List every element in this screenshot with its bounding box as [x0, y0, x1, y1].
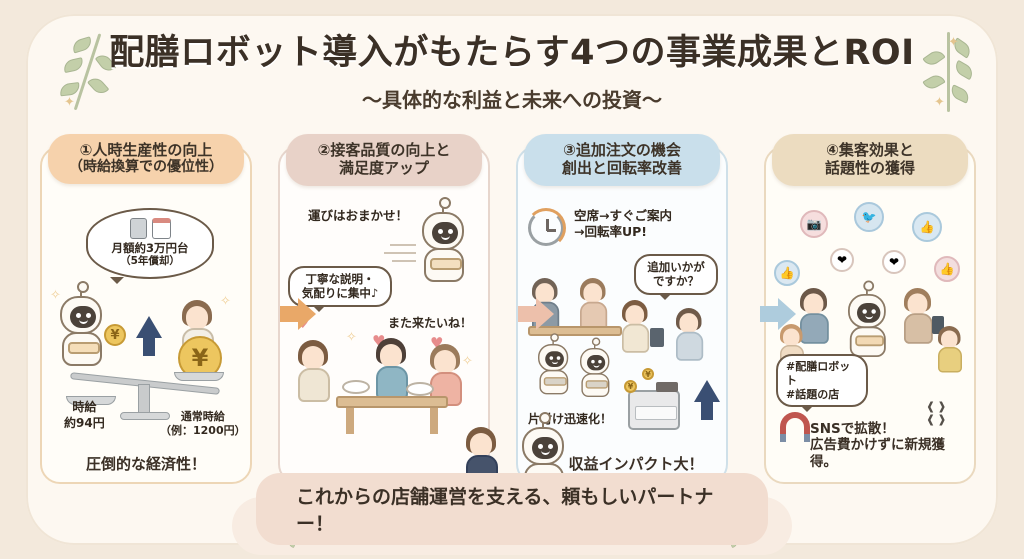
- panel-1-body: 月額約3万円台 （5年償却） ¥ ✧ ¥ ✧: [42, 204, 250, 482]
- clock-refresh-icon: [528, 210, 564, 246]
- panel-3-bubble: 追加いかが ですか？: [634, 254, 718, 295]
- panel-3-note-top: 空席→すぐご案内 →回転率UP!: [574, 208, 672, 241]
- panel-4-body: 📷 🐦 👍 ❤ ❤ 👍 👍: [766, 204, 974, 482]
- up-arrow-icon: [694, 380, 720, 402]
- panel-1-title-line1: ①人時生産性の向上: [54, 141, 238, 159]
- panel-4-title-line2: 話題性の獲得: [778, 159, 962, 177]
- thumbs-up-icon: 👍: [912, 212, 942, 242]
- table-leg: [346, 408, 354, 434]
- page-subtitle: 〜具体的な利益と未来への投資〜: [0, 84, 1024, 113]
- coin-icon: ¥: [624, 380, 637, 393]
- panel-2-title-line2: 満足度アップ: [292, 159, 476, 177]
- panel-2-note-right: また来たいね！: [388, 316, 472, 332]
- panel-3-note-top-line2: →回転率UP!: [574, 224, 647, 239]
- heart-icon: ❤: [882, 250, 906, 274]
- cash-register-icon: [628, 390, 680, 430]
- panel-2-note-top: 運びはおまかせ！: [308, 208, 408, 224]
- panel-3-bubble-line2: ですか？: [644, 274, 708, 288]
- panel-4-title-line1: ④集客効果と: [778, 141, 962, 159]
- sparkle-icon: ✧: [220, 294, 231, 309]
- twitter-bird-icon: 🐦: [854, 202, 884, 232]
- panel-1-left-label-line1: 時給: [72, 400, 96, 414]
- arrow-panel2-to-panel3: [536, 298, 554, 330]
- motion-line: [384, 252, 416, 254]
- sparkle-icon: ✧: [50, 288, 61, 303]
- page-title: 配膳ロボット導入がもたらす4つの事業成果とROI: [0, 24, 1024, 75]
- header: 配膳ロボット導入がもたらす4つの事業成果とROI 〜具体的な利益と未来への投資〜: [0, 24, 1024, 113]
- table-leg: [430, 408, 438, 434]
- panel-1-left-label: 時給 約94円: [64, 400, 105, 431]
- arrow-panel3-to-panel4: [778, 298, 796, 330]
- panel-4-caption: SNSで拡散！ 広告費かけずに新規獲得。: [810, 421, 970, 470]
- thumbs-up-icon: 👍: [934, 256, 960, 282]
- panel-1-right-label-line1: 通常時給: [181, 410, 225, 423]
- panel-3-title-line2: 創出と回転率改善: [530, 159, 714, 177]
- panel-1-right-label-line2: （例：1200円）: [160, 424, 246, 437]
- panel-3-header: ③追加注文の機会 創出と回転率改善: [524, 134, 720, 186]
- panel-1-title-line2: （時給換算での優位性）: [54, 159, 238, 176]
- panel-1-bubble-text: 月額約3万円台: [98, 241, 202, 255]
- dish-icon: [342, 380, 370, 394]
- arrow-panel1-to-panel2: [298, 298, 316, 330]
- sparkle-icon: ✧: [462, 354, 473, 369]
- heart-icon: ❤: [830, 248, 854, 272]
- panel-3-note-top-line1: 空席→すぐご案内: [574, 208, 672, 223]
- panel-2-header: ②接客品質の向上と 満足度アップ: [286, 134, 482, 186]
- motion-line: [392, 260, 416, 262]
- calculator-icon: [130, 218, 147, 239]
- camera-icon: 📷: [800, 210, 828, 238]
- calendar-icon: [152, 218, 171, 239]
- panel-2-bubble-line1: 丁寧な説明・: [298, 272, 382, 286]
- motion-line: [390, 244, 416, 246]
- panel-1-bubble: 月額約3万円台 （5年償却）: [86, 208, 214, 279]
- panel-4-caption-line1: SNSで拡散！: [810, 421, 970, 437]
- panel-1-bubble-sub: （5年償却）: [98, 255, 202, 268]
- panel-4-caption-line2: 広告費かけずに新規獲得。: [810, 437, 970, 470]
- panel-3-title-line1: ③追加注文の機会: [530, 141, 714, 159]
- panel-1[interactable]: ①人時生産性の向上 （時給換算での優位性） 月額約3万円台 （5年償却） ¥ ✧: [40, 146, 252, 484]
- panel-2-title-line1: ②接客品質の向上と: [292, 141, 476, 159]
- panel-4-hashtag-line2: #話題の店: [786, 388, 858, 402]
- tablet-icon: [650, 328, 664, 347]
- dish-icon: [406, 382, 434, 396]
- coin-icon: ¥: [642, 368, 654, 380]
- panel-1-header: ①人時生産性の向上 （時給換算での優位性）: [48, 134, 244, 184]
- panel-4-hashtag-line1: #配膳ロボット: [786, 360, 858, 388]
- table: [336, 396, 448, 408]
- panel-3-bubble-line1: 追加いかが: [644, 260, 708, 274]
- magnet-icon: [780, 412, 810, 434]
- up-arrow-icon: [136, 316, 162, 338]
- sparkle-icon: ✧: [346, 330, 357, 345]
- panel-4-header: ④集客効果と 話題性の獲得: [772, 134, 968, 186]
- footer-banner: これからの店舗運営を支える、頼もしいパートナー！: [256, 473, 768, 545]
- panel-1-left-label-line2: 約94円: [64, 416, 105, 430]
- yen-coin-icon: ¥: [104, 324, 126, 346]
- panel-1-caption: 圧倒的な経済性！: [48, 455, 244, 473]
- panel-4-hashtag-bubble: #配膳ロボット #話題の店: [776, 354, 868, 407]
- panel-1-right-label: 通常時給 （例：1200円）: [160, 410, 246, 439]
- thumbs-up-icon: 👍: [774, 260, 800, 286]
